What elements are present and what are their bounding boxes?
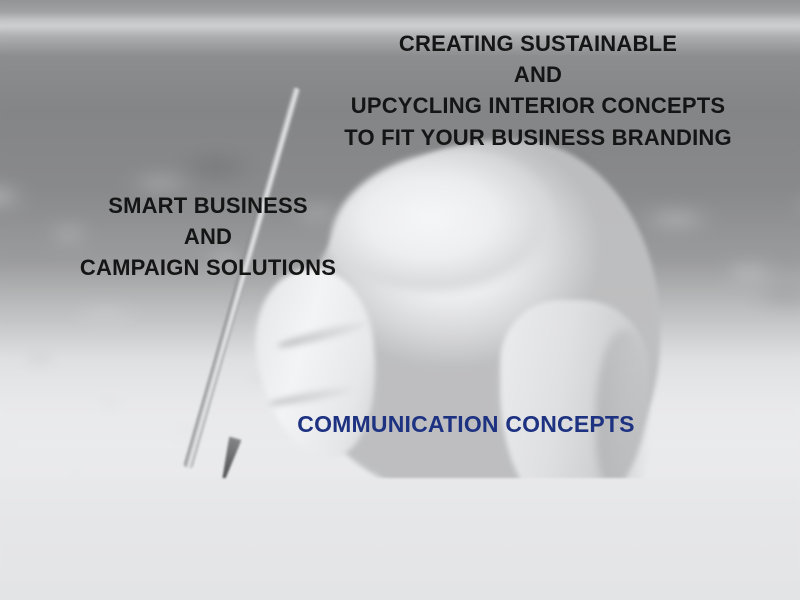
hand-knuckles xyxy=(330,150,580,300)
water-reflection-icon xyxy=(0,478,800,600)
subhead-line-2: AND xyxy=(80,221,336,252)
slide-canvas: CREATING SUSTAINABLE AND UPCYCLING INTER… xyxy=(0,0,800,600)
headline-line-4: TO FIT YOUR BUSINESS BRANDING xyxy=(344,122,732,153)
subhead-line-3: CAMPAIGN SOLUTIONS xyxy=(80,252,336,283)
headline-text-block: CREATING SUSTAINABLE AND UPCYCLING INTER… xyxy=(344,28,732,153)
headline-line-3: UPCYCLING INTERIOR CONCEPTS xyxy=(344,90,732,121)
tagline-text: COMMUNICATION CONCEPTS xyxy=(297,408,634,441)
tagline-text-block: COMMUNICATION CONCEPTS xyxy=(297,408,634,441)
pen-tip xyxy=(217,436,242,484)
subhead-text-block: SMART BUSINESS AND CAMPAIGN SOLUTIONS xyxy=(80,190,336,284)
headline-line-2: AND xyxy=(344,59,732,90)
subhead-line-1: SMART BUSINESS xyxy=(80,190,336,221)
headline-line-1: CREATING SUSTAINABLE xyxy=(344,28,732,59)
